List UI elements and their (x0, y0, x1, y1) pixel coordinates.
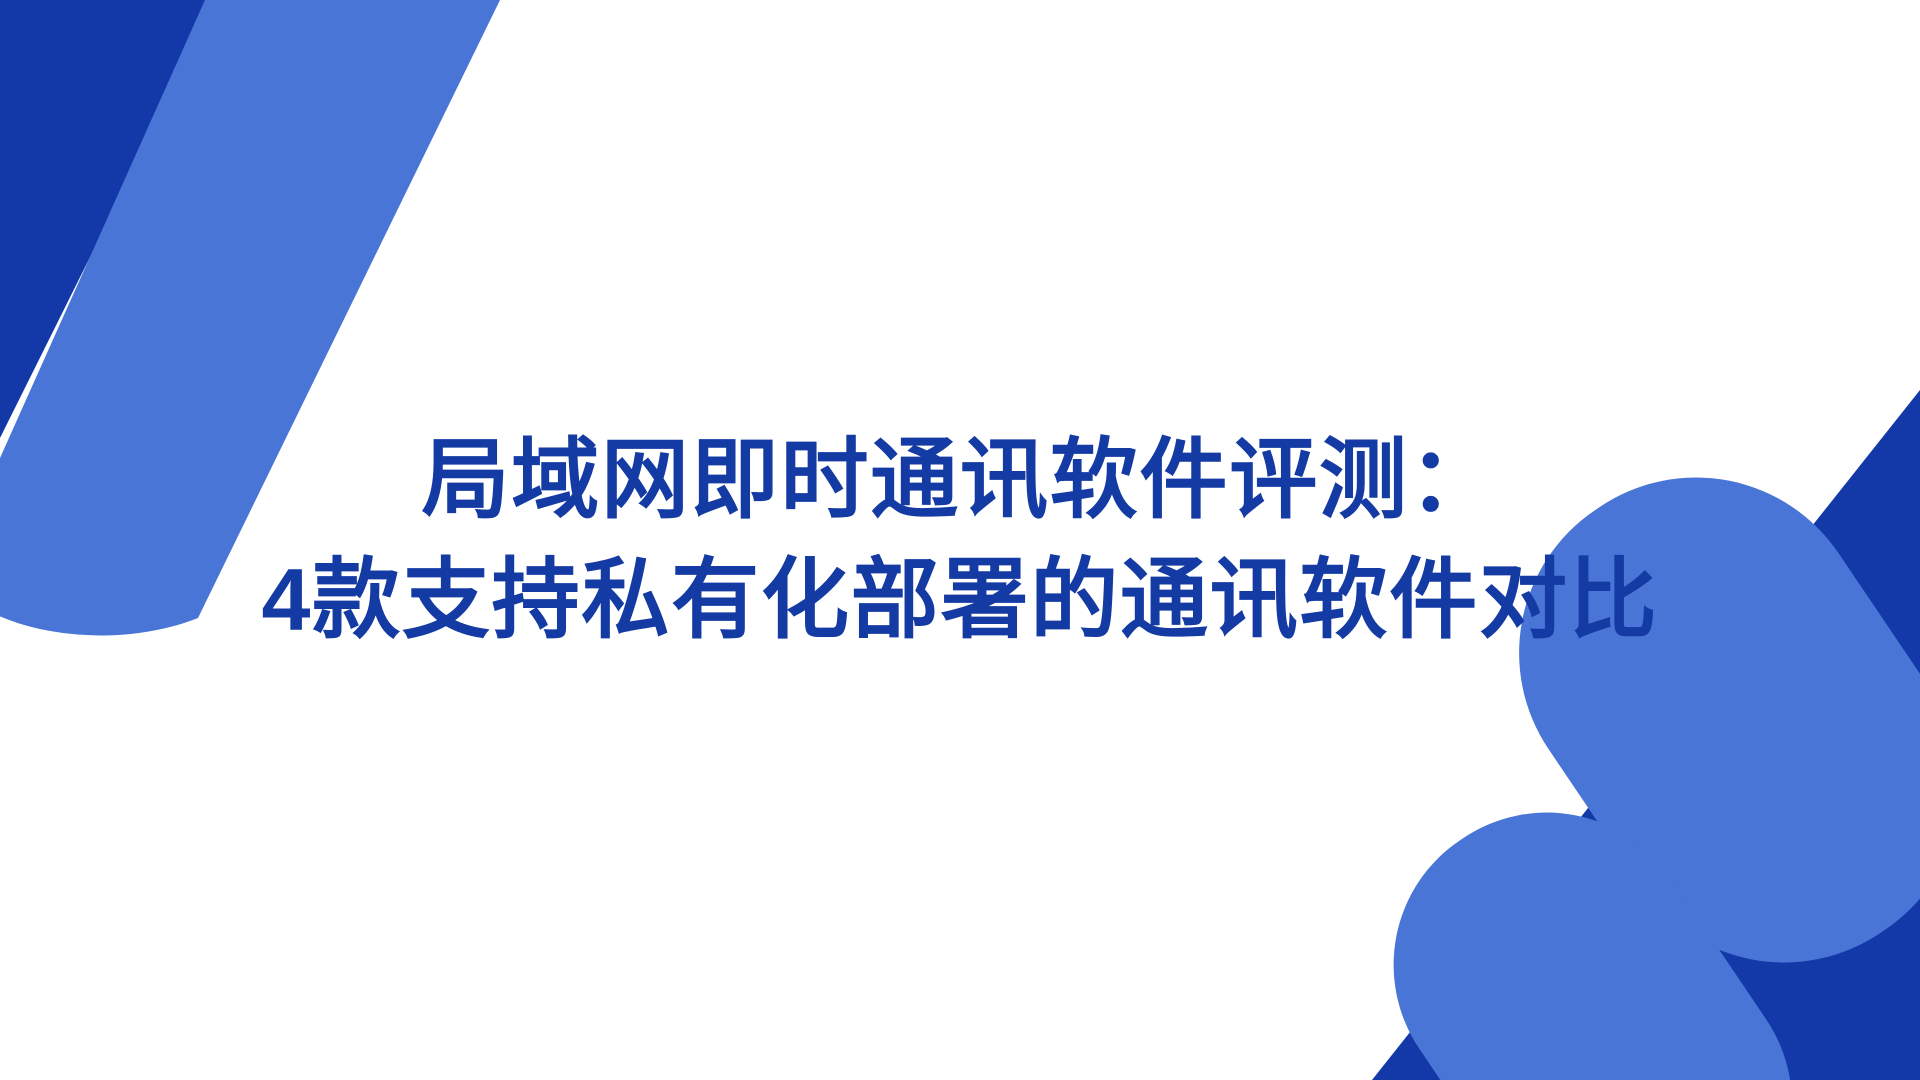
page-title: 局域网即时通讯软件评测： 4款支持私有化部署的通讯软件对比 (0, 0, 1920, 1080)
slide-canvas: 局域网即时通讯软件评测： 4款支持私有化部署的通讯软件对比 (0, 0, 1920, 1080)
title-line-2: 4款支持私有化部署的通讯软件对比 (261, 543, 1658, 657)
title-line-1: 局域网即时通讯软件评测： (421, 423, 1498, 537)
